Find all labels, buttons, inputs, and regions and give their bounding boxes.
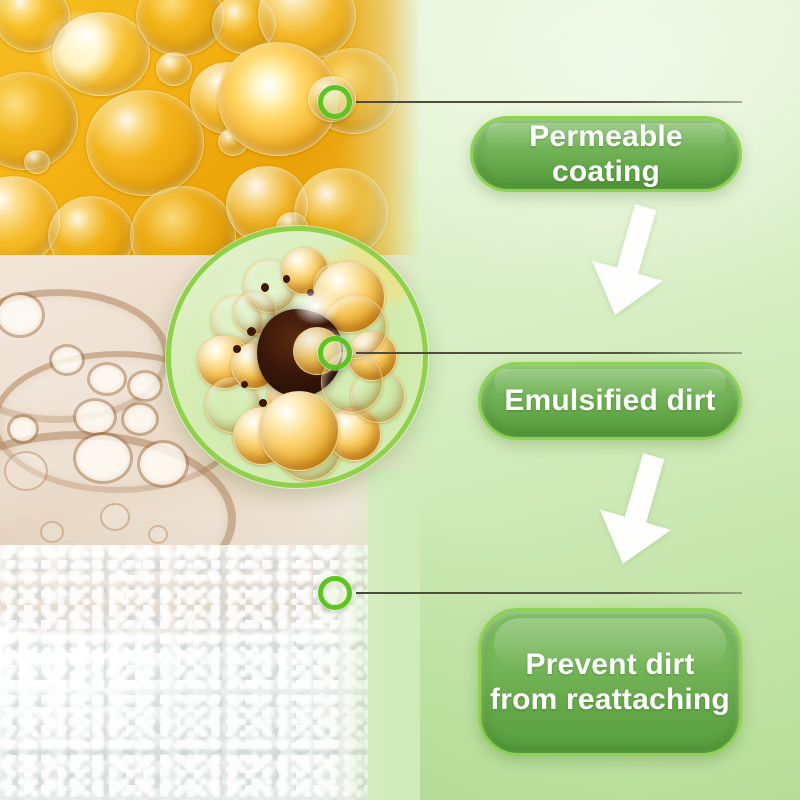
down-arrow-1-icon <box>575 203 685 321</box>
white-foam-layer <box>0 545 420 800</box>
foam-texture <box>0 545 420 800</box>
node-marker-permeable-coating[interactable] <box>318 85 352 119</box>
micelle-cluster <box>171 231 423 483</box>
photo-right-crop-edge <box>368 470 420 800</box>
connector-line-2 <box>356 352 742 354</box>
magnifier-circle <box>166 226 428 488</box>
down-arrow-2-icon <box>583 452 693 570</box>
connector-line-3 <box>356 592 742 594</box>
step-label-permeable-coating[interactable]: Permeable coating <box>470 116 742 192</box>
node-marker-prevent-reattaching[interactable] <box>318 576 352 610</box>
infographic-canvas: Permeable coating Emulsified dirt Preven… <box>0 0 800 800</box>
step-3-line-2: from reattaching <box>490 682 730 717</box>
node-marker-emulsified-dirt[interactable] <box>318 336 352 370</box>
connector-line-1 <box>356 101 742 103</box>
step-label-emulsified-dirt[interactable]: Emulsified dirt <box>478 362 742 440</box>
step-3-line-1: Prevent dirt <box>490 647 730 682</box>
step-label-prevent-reattaching[interactable]: Prevent dirt from reattaching <box>478 608 742 756</box>
